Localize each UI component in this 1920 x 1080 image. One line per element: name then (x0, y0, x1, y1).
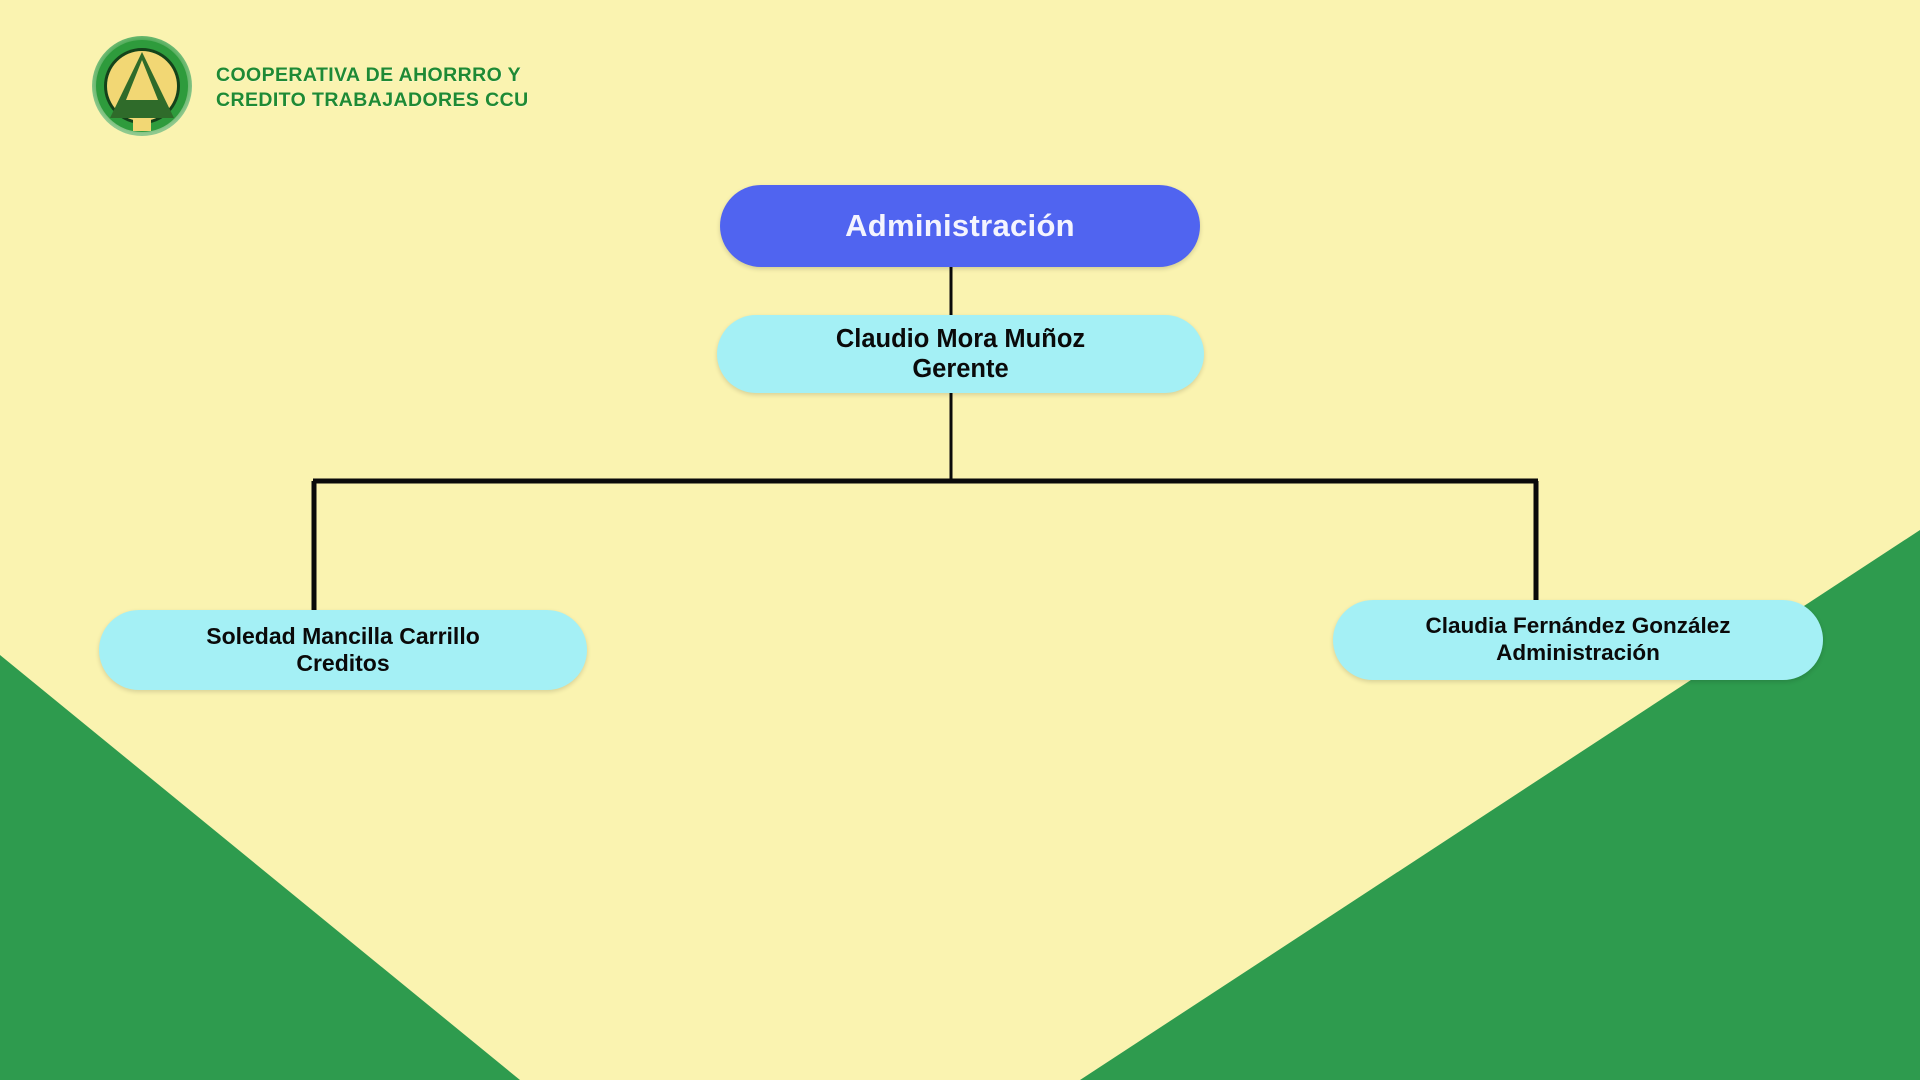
chart-node-creditos[interactable]: Soledad Mancilla Carrillo Creditos (99, 610, 587, 690)
chart-node-administracion[interactable]: Administración (720, 185, 1200, 267)
organization-chart-slide: COOPERATIVA DE AHORRRO Y CREDITO TRABAJA… (0, 0, 1920, 1080)
brand-name-line-2: CREDITO TRABAJADORES CCU (216, 88, 529, 113)
chart-node-title: Claudio Mora Muñoz (836, 324, 1085, 354)
cooperative-tree-logo-icon (84, 26, 200, 142)
chart-node-administracion-person[interactable]: Claudia Fernández González Administració… (1333, 600, 1823, 680)
background-decoration (0, 0, 1920, 1080)
brand-name: COOPERATIVA DE AHORRRO Y CREDITO TRABAJA… (216, 55, 529, 113)
chart-connectors (0, 0, 1920, 1080)
chart-node-subtitle: Creditos (296, 650, 389, 677)
chart-node-subtitle: Gerente (912, 354, 1008, 384)
chart-node-subtitle: Administración (1496, 640, 1660, 667)
brand-header: COOPERATIVA DE AHORRRO Y CREDITO TRABAJA… (84, 26, 529, 142)
chart-node-title: Claudia Fernández González (1425, 613, 1730, 640)
brand-name-line-1: COOPERATIVA DE AHORRRO Y (216, 63, 529, 88)
green-wedge-left (0, 655, 520, 1080)
chart-node-gerente[interactable]: Claudio Mora Muñoz Gerente (717, 315, 1204, 393)
chart-node-title: Administración (845, 208, 1075, 245)
chart-node-title: Soledad Mancilla Carrillo (206, 623, 480, 650)
